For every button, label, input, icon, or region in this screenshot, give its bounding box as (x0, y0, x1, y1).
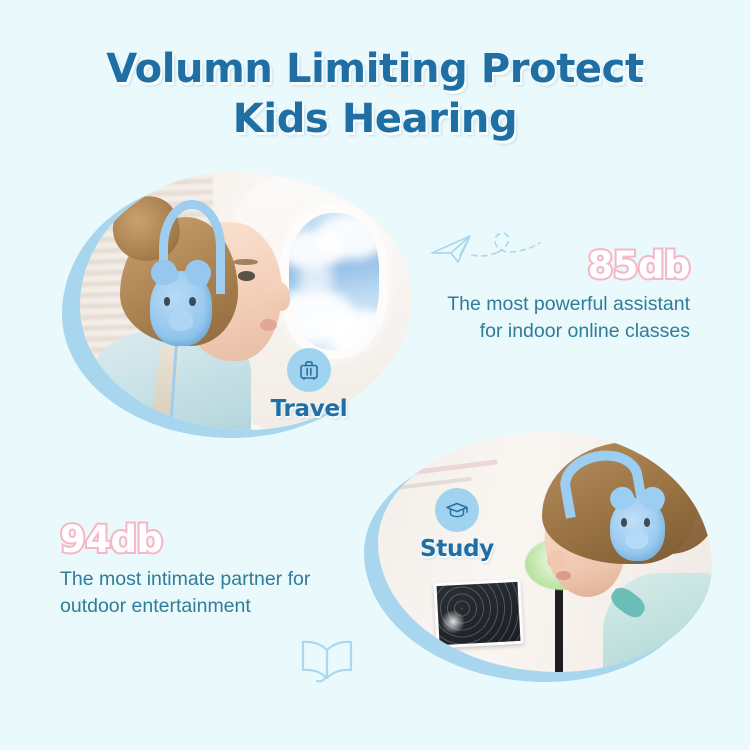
paper-plane-icon (424, 214, 544, 287)
suitcase-icon (287, 348, 331, 392)
callout-outdoor: 94db The most intimate partner for outdo… (60, 518, 320, 620)
callout-description-indoor: The most powerful assistant for indoor o… (420, 291, 690, 345)
page-title: Volumn Limiting Protect Kids Hearing (0, 44, 750, 144)
scenario-badge-travel: Travel (254, 348, 364, 422)
child-with-headphones-study (538, 437, 712, 672)
graduation-cap-icon (435, 488, 479, 532)
page-title-line-2: Kids Hearing (0, 94, 750, 144)
open-book-icon (296, 636, 358, 693)
product-feature-poster: Volumn Limiting Protect Kids Hearing (0, 0, 750, 750)
tablet-device (433, 579, 523, 648)
badge-label-study: Study (402, 536, 512, 562)
scenario-badge-study: Study (402, 488, 512, 562)
page-title-line-1: Volumn Limiting Protect (0, 44, 750, 94)
headphone-ear-cup (150, 271, 211, 345)
callout-description-outdoor: The most intimate partner for outdoor en… (60, 566, 320, 620)
db-value-94: 94db (60, 518, 320, 561)
headphone-ear-cup (610, 498, 664, 562)
badge-label-travel: Travel (254, 396, 364, 422)
